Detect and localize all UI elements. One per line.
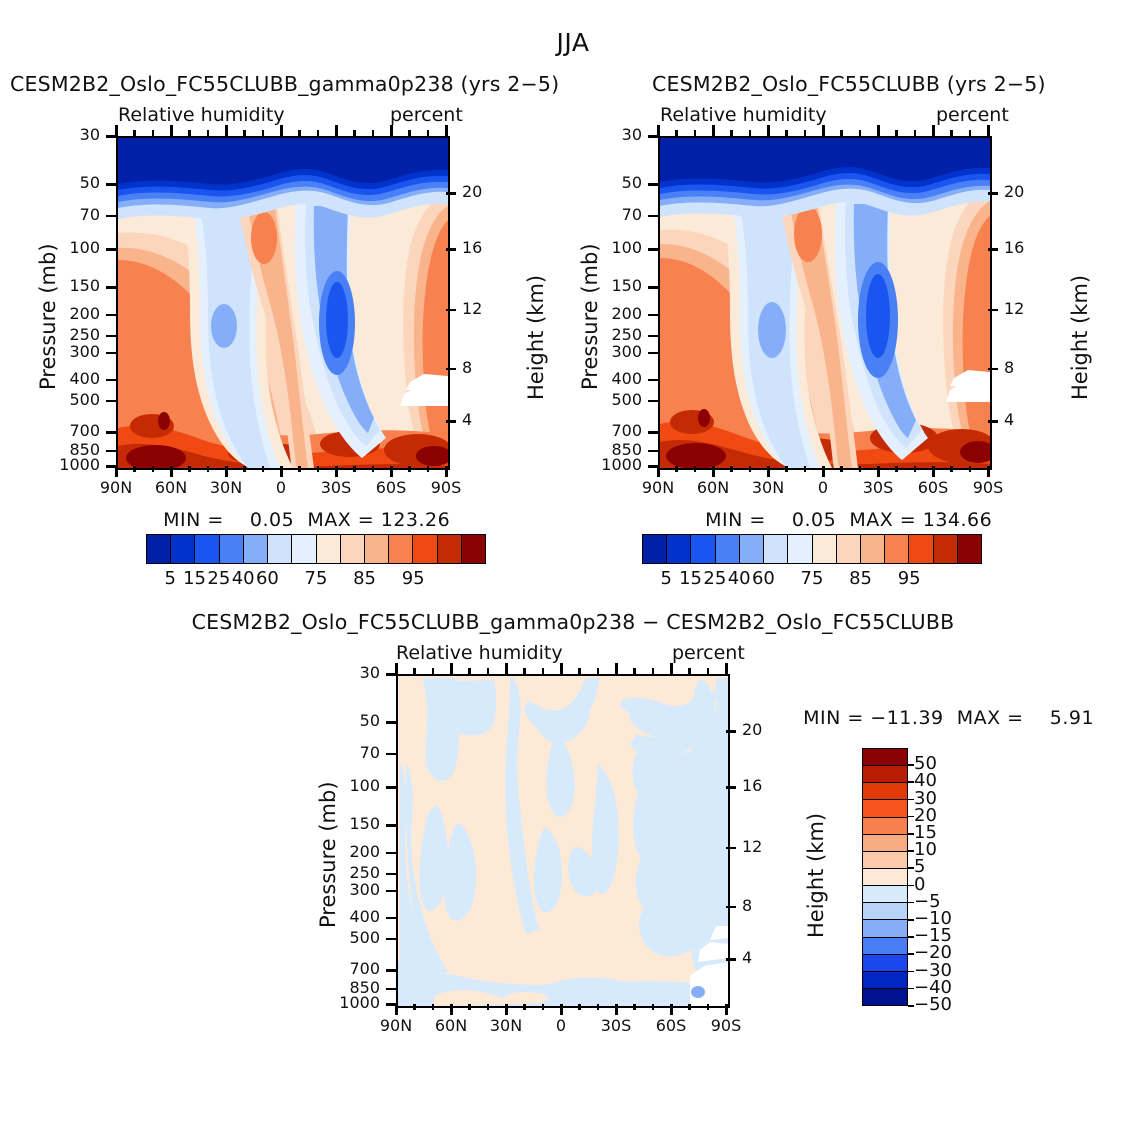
- colorbar-tick-diff: [908, 799, 914, 801]
- colorbar-tick-diff: [908, 850, 914, 852]
- colorbar-tick-diff: [908, 953, 914, 955]
- colorbar-tick-diff: [908, 919, 914, 921]
- colorbar-labels-diff: 50403020151050−5−10−15−20−30−40−50: [0, 0, 1146, 1146]
- colorbar-tick-diff: [908, 971, 914, 973]
- colorbar-tick-diff: [908, 936, 914, 938]
- colorbar-tick-diff: [908, 764, 914, 766]
- colorbar-tick-diff: [908, 816, 914, 818]
- colorbar-tick-diff: [908, 988, 914, 990]
- colorbar-tick-diff: [908, 1005, 914, 1007]
- colorbar-tick-diff: [908, 885, 914, 887]
- colorbar-tick-label-diff: −50: [914, 994, 952, 1015]
- colorbar-tick-diff: [908, 833, 914, 835]
- colorbar-tick-diff: [908, 902, 914, 904]
- colorbar-tick-diff: [908, 867, 914, 869]
- colorbar-tick-diff: [908, 781, 914, 783]
